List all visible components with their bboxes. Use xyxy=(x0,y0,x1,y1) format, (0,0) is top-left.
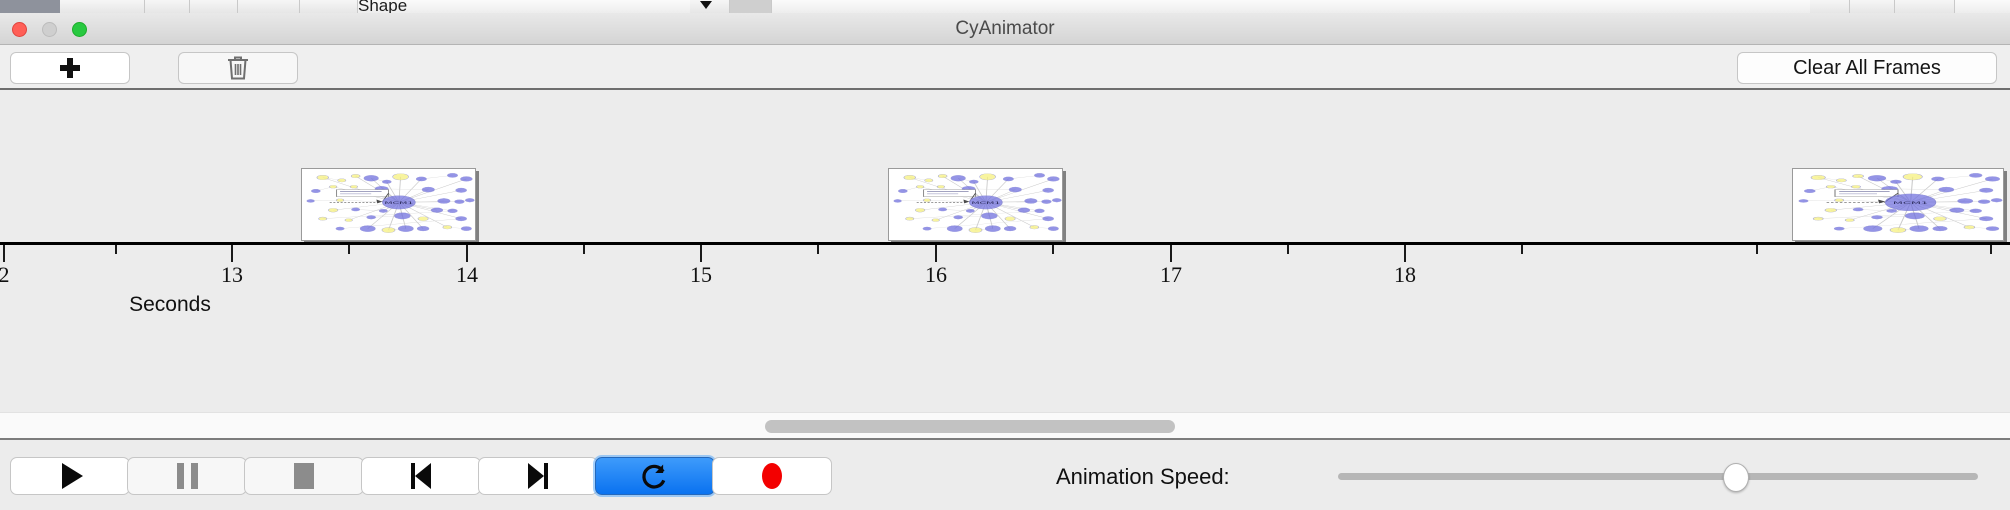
background-window-strip: Shape xyxy=(0,0,2010,13)
ruler-minor-tick xyxy=(1756,245,1758,254)
skip-to-end-button[interactable] xyxy=(478,457,598,495)
ruler-minor-tick xyxy=(1287,245,1289,254)
stop-button[interactable] xyxy=(244,457,364,495)
ruler-major-tick xyxy=(1404,245,1406,262)
ruler-major-tick xyxy=(935,245,937,262)
ruler-major-tick xyxy=(231,245,233,262)
keyframe-thumbnail[interactable]: MCM1 xyxy=(1792,168,2004,241)
keyframe-thumbnail[interactable]: MCM1 xyxy=(888,168,1063,241)
ruler-minor-tick xyxy=(1052,245,1054,254)
ruler-minor-tick xyxy=(1990,245,1992,254)
skip-back-icon xyxy=(408,463,434,489)
ruler-tick-label: 2 xyxy=(0,262,10,288)
background-window-label: Shape xyxy=(358,0,407,13)
svg-text:MCM1: MCM1 xyxy=(1893,201,1928,206)
ruler-minor-tick xyxy=(348,245,350,254)
record-icon xyxy=(762,463,782,489)
background-tab xyxy=(1850,0,1895,13)
svg-text:MCM1: MCM1 xyxy=(384,200,413,205)
ruler-tick-label: 18 xyxy=(1394,262,1416,288)
stop-icon xyxy=(294,463,314,489)
keyframe-thumbnail[interactable]: MCM1 xyxy=(301,168,476,241)
animation-speed-label: Animation Speed: xyxy=(1056,464,1230,490)
trash-icon xyxy=(226,55,250,81)
clear-all-frames-label: Clear All Frames xyxy=(1793,57,1941,80)
ruler-minor-tick xyxy=(817,245,819,254)
ruler-major-tick xyxy=(1170,245,1172,262)
delete-frame-button[interactable] xyxy=(178,52,298,84)
ruler-major-tick xyxy=(466,245,468,262)
loop-icon xyxy=(640,461,670,491)
ruler-axis-line xyxy=(0,242,2010,245)
ruler-tick-label: 17 xyxy=(1160,262,1182,288)
horizontal-scrollbar[interactable] xyxy=(0,412,2010,440)
loop-button[interactable] xyxy=(595,457,715,495)
ruler-tick-label: 14 xyxy=(456,262,478,288)
caret-icon xyxy=(700,1,712,9)
pause-icon xyxy=(177,463,198,489)
background-tab xyxy=(300,0,358,13)
ruler-tick-label: 16 xyxy=(925,262,947,288)
background-sidebar xyxy=(0,0,60,13)
toolbar: Clear All Frames xyxy=(0,45,2010,90)
record-button[interactable] xyxy=(712,457,832,495)
background-tab xyxy=(145,0,190,13)
background-tab xyxy=(190,0,238,13)
skip-to-start-button[interactable] xyxy=(361,457,481,495)
ruler-major-tick xyxy=(700,245,702,262)
animation-speed-knob[interactable] xyxy=(1723,463,1749,492)
ruler-major-tick xyxy=(3,245,5,262)
svg-text:MCM1: MCM1 xyxy=(971,200,1000,205)
timeline-panel[interactable]: MCM1MCM1MCM1 2131415161718 Seconds xyxy=(0,90,2010,412)
add-frame-button[interactable] xyxy=(10,52,130,84)
window-title: CyAnimator xyxy=(0,13,2010,45)
ruler-tick-label: 15 xyxy=(690,262,712,288)
background-tab-selected xyxy=(730,0,772,13)
play-icon xyxy=(62,463,83,489)
clear-all-frames-button[interactable]: Clear All Frames xyxy=(1737,52,1997,84)
ruler-minor-tick xyxy=(115,245,117,254)
ruler-minor-tick xyxy=(1521,245,1523,254)
background-tab xyxy=(1810,0,1850,13)
playback-bar: Animation Speed: xyxy=(0,442,2010,510)
animation-speed-slider[interactable] xyxy=(1338,473,1978,480)
ruler-tick-label: 13 xyxy=(221,262,243,288)
cyanimator-window: Shape CyAnimator Clear All Frames MCM1M xyxy=(0,0,2010,510)
play-button[interactable] xyxy=(10,457,130,495)
axis-title: Seconds xyxy=(0,293,2010,317)
axis-title-label: Seconds xyxy=(129,293,211,316)
scrollbar-thumb[interactable] xyxy=(765,420,1175,433)
background-tab xyxy=(1895,0,1955,13)
background-tab xyxy=(238,0,300,13)
background-tab xyxy=(60,0,145,13)
ruler-minor-tick xyxy=(583,245,585,254)
title-bar: CyAnimator xyxy=(0,13,2010,45)
plus-icon xyxy=(60,58,80,78)
skip-forward-icon xyxy=(525,463,551,489)
pause-button[interactable] xyxy=(127,457,247,495)
